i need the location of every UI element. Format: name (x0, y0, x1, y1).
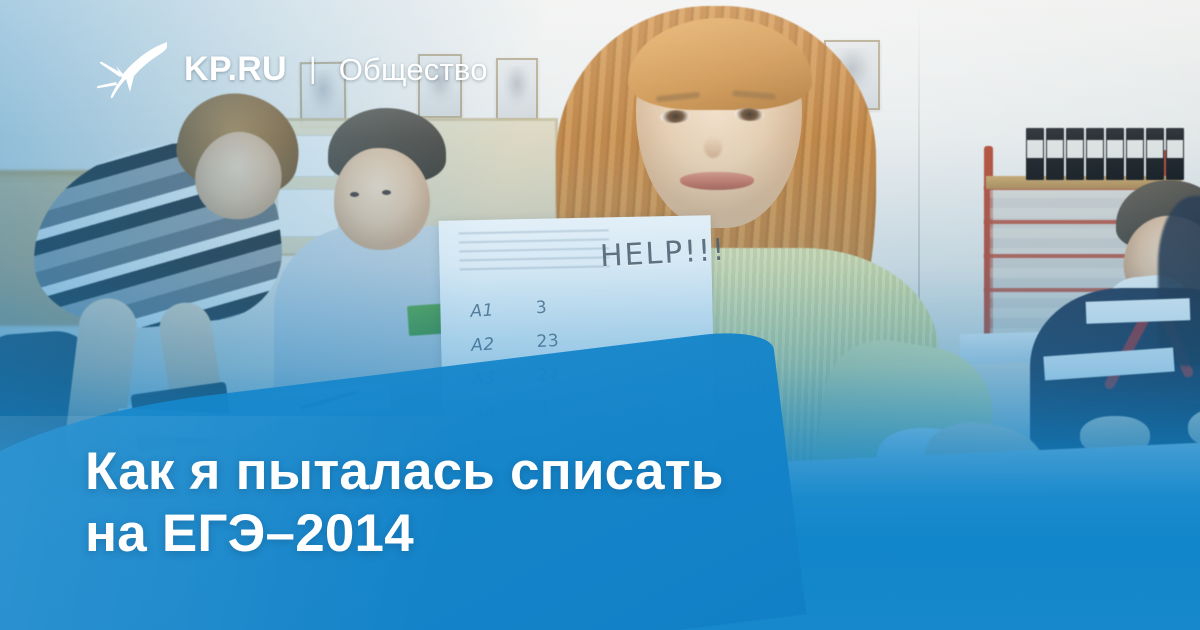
swallow-bird-icon[interactable] (96, 38, 168, 100)
card-header: KP.RU | Общество (96, 38, 488, 100)
headline-line-1: Как я пыталась списать (85, 441, 724, 502)
brand-name[interactable]: KP.RU (184, 52, 287, 86)
header-separator: | (309, 54, 317, 84)
page-title: Как я пыталась списать на ЕГЭ–2014 (85, 441, 724, 564)
headline-line-2: на ЕГЭ–2014 (85, 503, 724, 564)
rubric-label[interactable]: Общество (339, 54, 488, 85)
handwritten-help-text: HELP!!! (599, 233, 727, 275)
social-share-card: A1 3 A2 23 A3 27 A4 4 (0, 0, 1200, 630)
